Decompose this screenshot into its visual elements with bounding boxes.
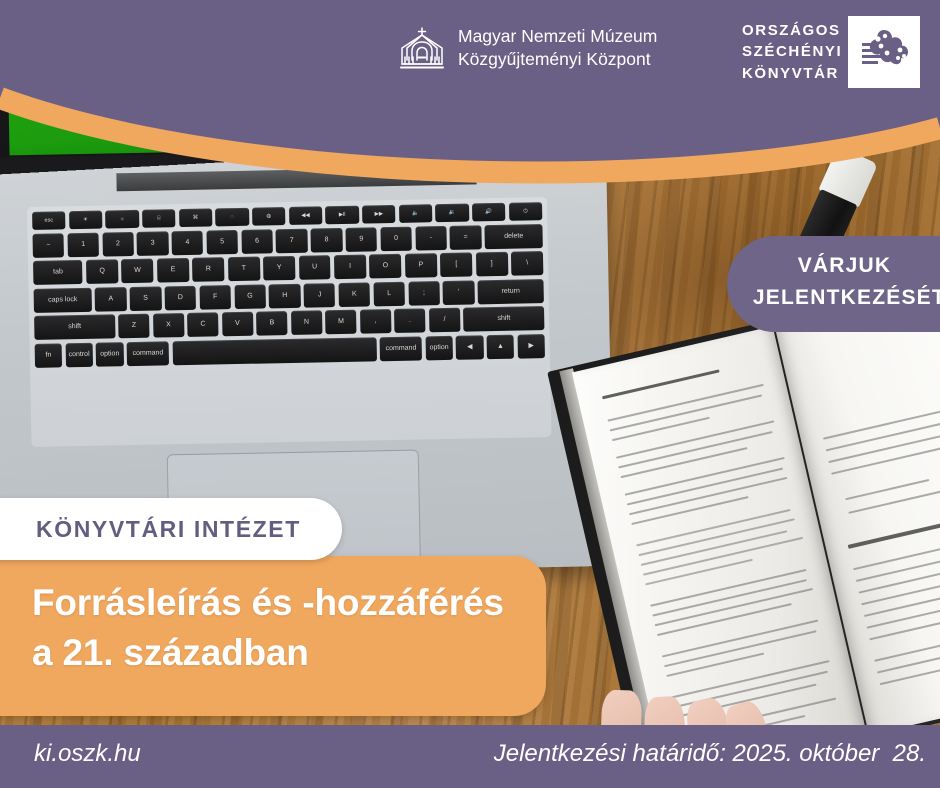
- key-f1: ☀: [69, 211, 103, 230]
- key-shift-left: shift: [34, 314, 115, 340]
- key-backtick: ~: [32, 233, 64, 258]
- key-f5: ◌: [215, 208, 249, 227]
- floral-ornament-icon: [854, 22, 914, 82]
- key-5: 5: [206, 229, 238, 254]
- key-arrow-right: ▶: [517, 334, 545, 359]
- key-arrow-updown: ▲: [487, 334, 515, 359]
- key-p: P: [405, 253, 437, 278]
- key-g: G: [234, 284, 266, 309]
- oszk-emblem-box: [848, 16, 920, 88]
- key-q: Q: [86, 259, 118, 284]
- key-comma: ,: [360, 309, 391, 334]
- key-caps-lock: caps lock: [34, 287, 92, 312]
- museum-logo-line1: Magyar Nemzeti Múzeum: [458, 25, 657, 48]
- key-u: U: [298, 255, 330, 280]
- key-9: 9: [345, 227, 377, 252]
- footer-band: ki.oszk.hu Jelentkezési határidő: 2025. …: [0, 725, 940, 788]
- key-7: 7: [276, 228, 308, 253]
- oszk-logo: ORSZÁGOS SZÉCHÉNYI KÖNYVTÁR: [742, 16, 920, 88]
- oszk-logo-line2: SZÉCHÉNYI: [742, 41, 842, 63]
- key-bracket-left: [: [440, 252, 472, 277]
- key-esc: esc: [32, 211, 66, 230]
- key-option-right: option: [425, 335, 453, 360]
- key-k: K: [338, 282, 370, 307]
- key-c: C: [187, 312, 218, 337]
- key-h: H: [269, 283, 301, 308]
- key-option-left: option: [96, 342, 124, 367]
- key-control: control: [65, 342, 93, 367]
- key-space: [172, 337, 376, 365]
- key-semicolon: ;: [408, 281, 440, 306]
- laptop-keyboard: esc ☀ ☼ ⌸ ⌘ ◌ ◍ ◀◀ ▶ll ▶▶ 🔈 🔉 🔊 ⏻ ~: [27, 197, 552, 447]
- key-f2: ☼: [105, 210, 139, 229]
- key-f3: ⌸: [142, 209, 176, 228]
- keyboard-row-space: fn control option command command option…: [35, 334, 545, 368]
- key-o: O: [369, 254, 401, 279]
- key-e: E: [157, 258, 189, 283]
- oszk-logo-line1: ORSZÁGOS: [742, 20, 842, 42]
- oszk-logo-line3: KÖNYVTÁR: [742, 63, 842, 85]
- key-3: 3: [137, 231, 169, 256]
- key-i: I: [334, 255, 366, 280]
- key-2: 2: [102, 231, 134, 256]
- key-w: W: [121, 259, 153, 284]
- key-n: N: [291, 310, 322, 335]
- key-f4: ⌘: [179, 208, 213, 227]
- key-tab: tab: [33, 260, 83, 285]
- key-0: 0: [380, 226, 412, 251]
- key-equals: =: [450, 225, 482, 250]
- key-j: J: [304, 283, 336, 308]
- key-d: D: [165, 285, 197, 310]
- museum-logo-text: Magyar Nemzeti Múzeum Közgyűjteményi Köz…: [458, 25, 657, 71]
- museum-logo-line2: Közgyűjteményi Központ: [458, 48, 657, 71]
- key-a: A: [95, 287, 127, 312]
- key-fn: fn: [35, 343, 63, 368]
- oszk-logo-text: ORSZÁGOS SZÉCHÉNYI KÖNYVTÁR: [742, 20, 842, 85]
- title-line2: a 21. században: [32, 632, 309, 674]
- key-period: .: [394, 308, 425, 333]
- key-t: T: [228, 257, 260, 282]
- key-shift-right: shift: [463, 306, 544, 332]
- key-slash: /: [429, 308, 460, 333]
- key-v: V: [222, 312, 253, 337]
- poster-root: esc ☀ ☼ ⌸ ⌘ ◌ ◍ ◀◀ ▶ll ▶▶ 🔈 🔉 🔊 ⏻ ~: [0, 0, 940, 788]
- key-6: 6: [241, 229, 273, 254]
- museum-building-icon: [398, 24, 446, 72]
- key-y: Y: [263, 256, 295, 281]
- key-backslash: \: [511, 251, 543, 276]
- key-l: L: [373, 281, 405, 306]
- callout-apply-box: VÁRJUK JELENTKEZÉSÉT!: [727, 236, 940, 332]
- key-arrow-left: ◀: [456, 335, 484, 360]
- footer-url[interactable]: ki.oszk.hu: [34, 740, 141, 768]
- key-return: return: [478, 279, 544, 304]
- key-b: B: [256, 311, 287, 336]
- key-command-left: command: [127, 341, 170, 366]
- key-s: S: [130, 286, 162, 311]
- footer-deadline: Jelentkezési határidő: 2025. október 28.: [494, 740, 926, 768]
- callout-line2: JELENTKEZÉSÉT!: [727, 286, 940, 310]
- key-quote: ': [443, 280, 475, 305]
- callout-line1: VÁRJUK: [727, 254, 940, 278]
- key-1: 1: [67, 232, 99, 257]
- key-minus: -: [415, 225, 447, 250]
- key-x: X: [153, 313, 184, 338]
- key-m: M: [325, 310, 356, 335]
- key-z: Z: [118, 314, 149, 339]
- key-f: F: [199, 285, 231, 310]
- title-line1: Forrásleírás és -hozzáférés: [32, 582, 504, 624]
- key-delete: delete: [485, 224, 543, 249]
- museum-logo: Magyar Nemzeti Múzeum Közgyűjteményi Köz…: [398, 24, 657, 72]
- eyebrow-pill: KÖNYVTÁRI INTÉZET: [0, 498, 342, 560]
- key-bracket-right: ]: [476, 252, 508, 277]
- key-command-right: command: [380, 336, 423, 361]
- eyebrow-label: KÖNYVTÁRI INTÉZET: [36, 516, 301, 543]
- title-box: Forrásleírás és -hozzáférés a 21. század…: [0, 556, 546, 716]
- key-4: 4: [172, 230, 204, 255]
- key-8: 8: [311, 227, 343, 252]
- key-r: R: [192, 257, 224, 282]
